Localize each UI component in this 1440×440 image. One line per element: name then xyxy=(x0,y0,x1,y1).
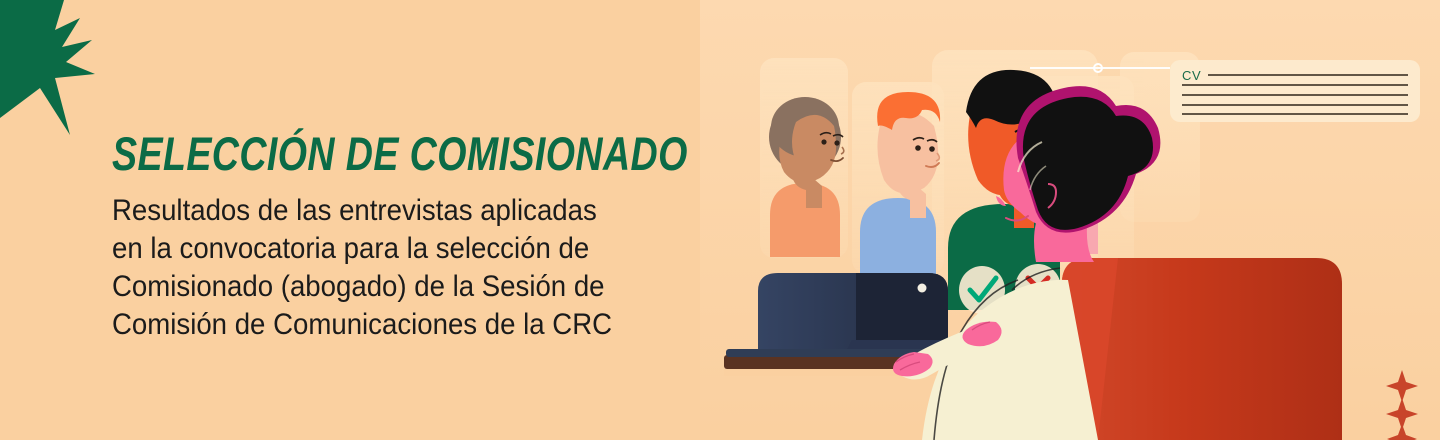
subtitle-line-2: en la convocatoria para la selección de xyxy=(112,230,682,268)
interview-illustration: CV xyxy=(700,0,1440,440)
corner-star-icon xyxy=(0,0,130,135)
cv-card-label: CV xyxy=(1182,68,1201,83)
subtitle-line-3: Comisionado (abogado) de la Sesión de xyxy=(112,268,682,306)
banner-root: SELECCIÓN DE COMISIONADO Resultados de l… xyxy=(0,0,1440,440)
text-block: SELECCIÓN DE COMISIONADO Resultados de l… xyxy=(112,128,732,344)
subtitle-line-4: Comisión de Comunicaciones de la CRC xyxy=(112,306,682,344)
page-subtitle: Resultados de las entrevistas aplicadas … xyxy=(112,192,682,344)
laptop-camera-dot xyxy=(918,284,927,293)
illustration-svg: CV xyxy=(700,0,1440,440)
page-title: SELECCIÓN DE COMISIONADO xyxy=(112,128,608,180)
subtitle-line-1: Resultados de las entrevistas aplicadas xyxy=(112,192,682,230)
corner-star-decoration xyxy=(0,0,130,135)
